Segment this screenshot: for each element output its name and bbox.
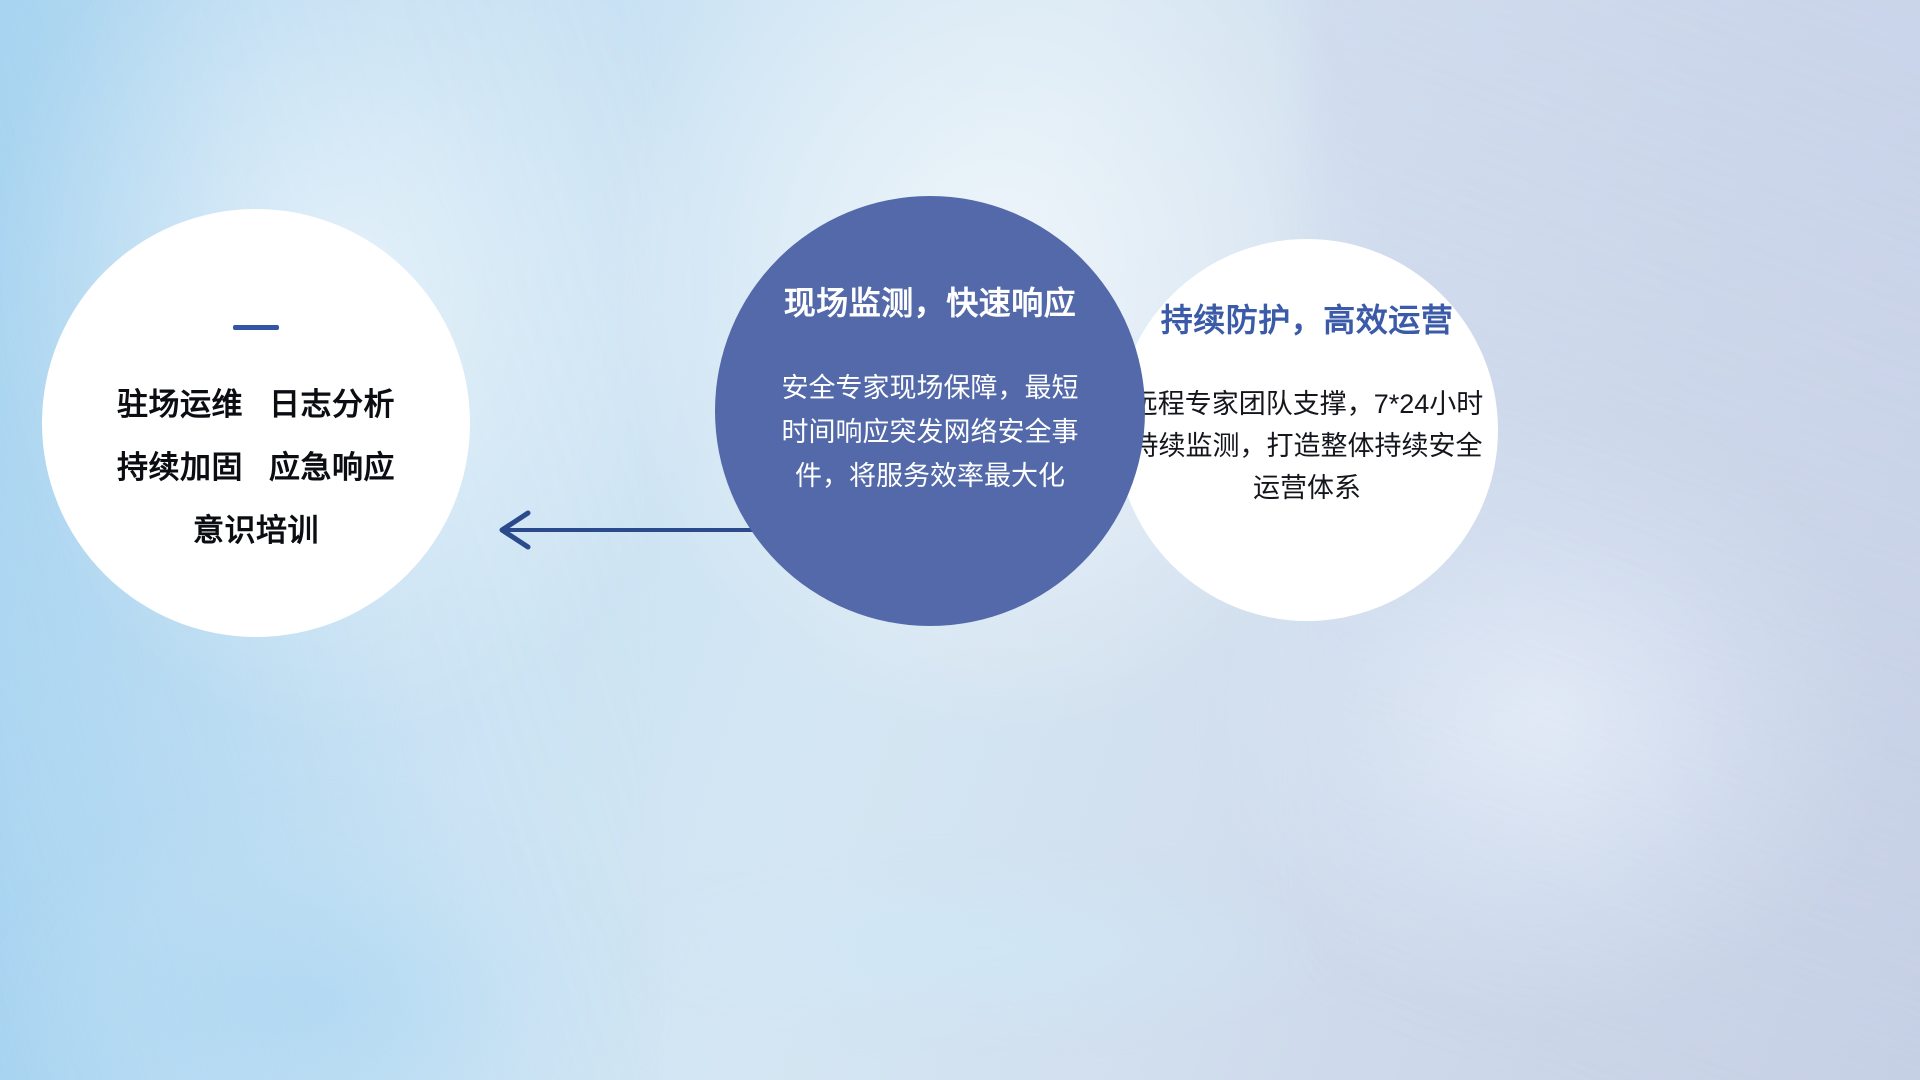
- tag-row: 意识培训: [42, 499, 470, 562]
- tag-row: 持续加固应急响应: [42, 436, 470, 499]
- circle-right-heading: 持续防护，高效运营: [1161, 295, 1454, 341]
- tag-label: 驻场运维: [117, 387, 243, 422]
- circle-middle-body: 安全专家现场保障，最短时间响应突发网络安全事件，将服务效率最大化: [774, 366, 1086, 498]
- tag-label: 意识培训: [193, 513, 319, 548]
- capability-circle-left[interactable]: 驻场运维日志分析 持续加固应急响应 意识培训: [42, 209, 470, 637]
- capability-circle-middle[interactable]: 现场监测，快速响应 安全专家现场保障，最短时间响应突发网络安全事件，将服务效率最…: [715, 196, 1145, 626]
- circle-middle-heading: 现场监测，快速响应: [784, 278, 1077, 324]
- tag-label: 应急响应: [269, 450, 395, 485]
- tag-label: 日志分析: [269, 387, 395, 422]
- capability-circle-right[interactable]: 持续防护，高效运营 远程专家团队支撑，7*24小时持续监测，打造整体持续安全运营…: [1116, 239, 1498, 621]
- circle-right-body: 远程专家团队支撑，7*24小时持续监测，打造整体持续安全运营体系: [1130, 383, 1484, 509]
- tag-label: 持续加固: [117, 450, 243, 485]
- background-lower-highlight: [538, 691, 1652, 1058]
- capability-tag-list: 驻场运维日志分析 持续加固应急响应 意识培训: [42, 373, 470, 562]
- tag-row: 驻场运维日志分析: [42, 373, 470, 436]
- slide-canvas: 驻场运维日志分析 持续加固应急响应 意识培训 持续防护，高效运营 远程专家团队支…: [0, 0, 1920, 1080]
- divider-dash: [233, 325, 279, 330]
